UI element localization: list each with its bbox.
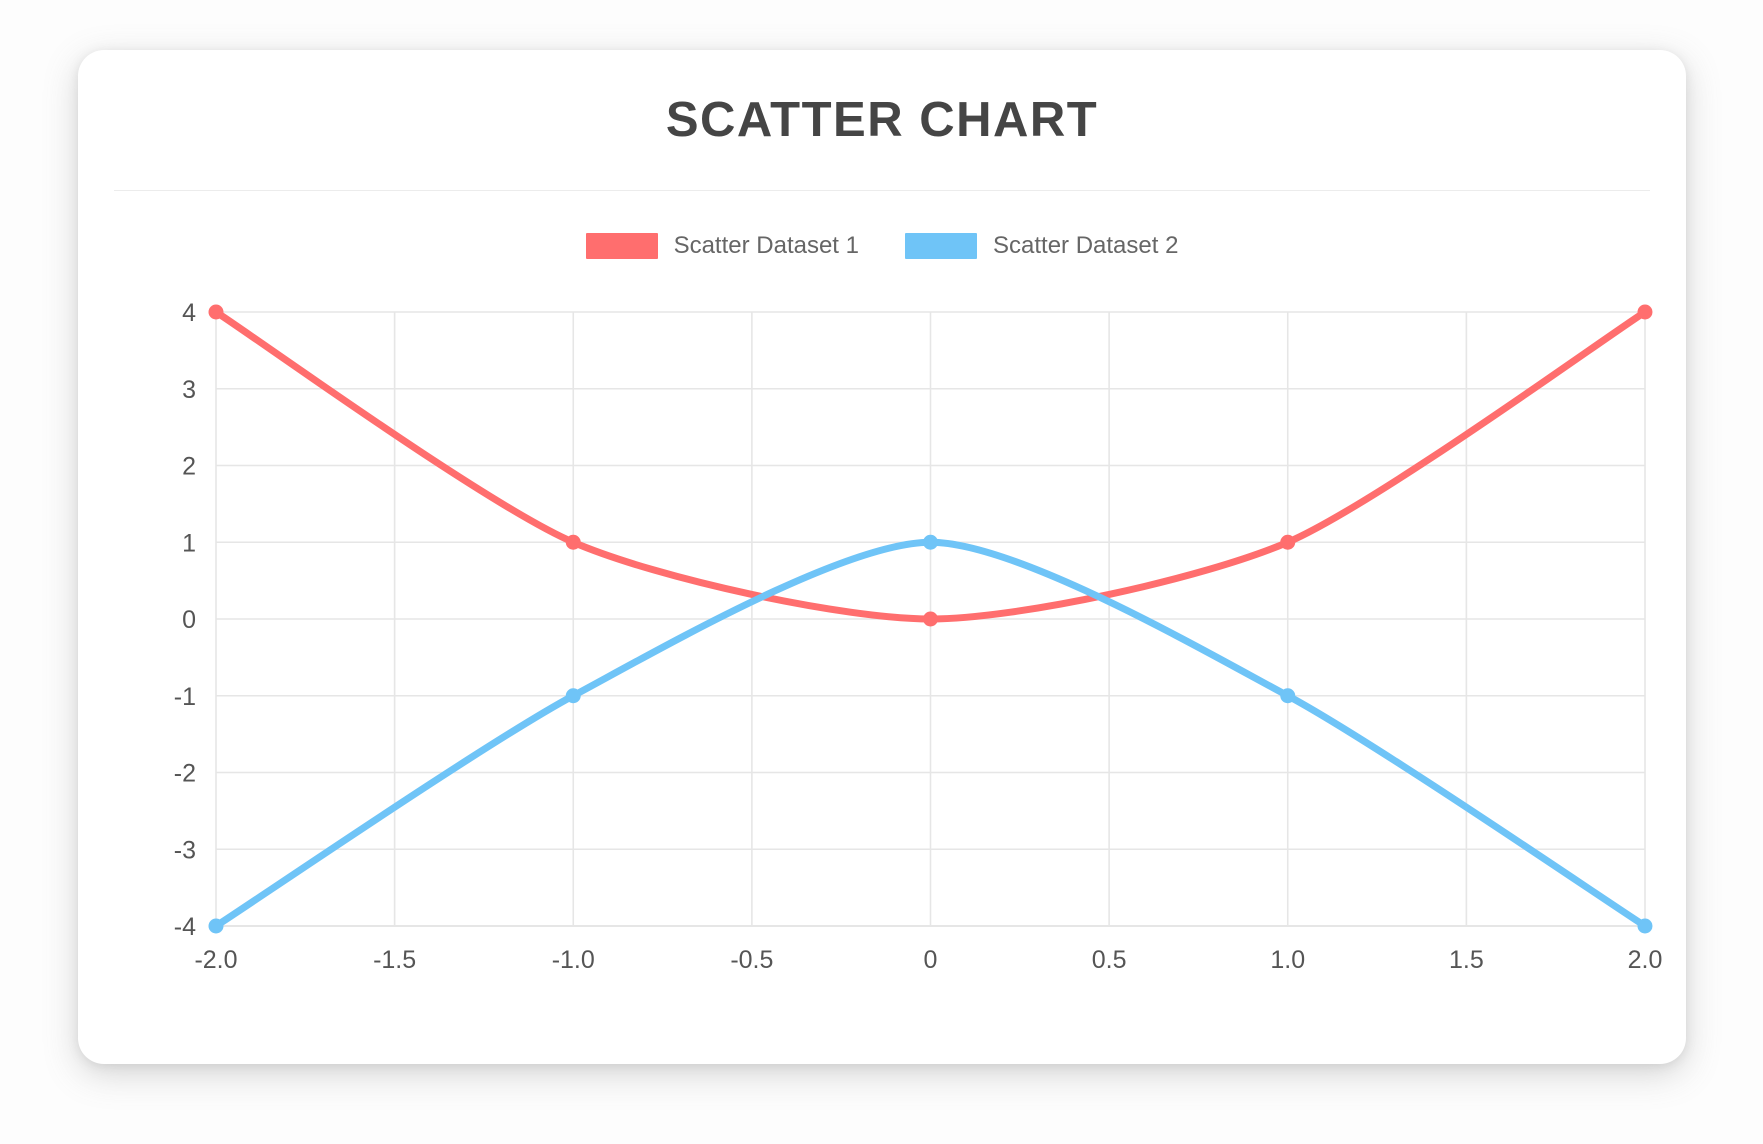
chart-page: SCATTER CHART Scatter Dataset 1Scatter D…: [0, 0, 1763, 1144]
data-point[interactable]: [566, 688, 581, 703]
x-tick-label: -2.0: [194, 946, 237, 974]
data-point[interactable]: [209, 305, 224, 320]
x-tick-label: -1.0: [552, 946, 595, 974]
scatter-chart-svg: 43210-1-2-3-4-2.0-1.5-1.0-0.500.51.01.52…: [78, 246, 1686, 1036]
x-tick-label: 2.0: [1628, 946, 1663, 974]
x-tick-label: 1.5: [1449, 946, 1484, 974]
y-tick-label: 0: [182, 606, 196, 634]
y-axis-ticks: 43210-1-2-3-4: [174, 299, 196, 941]
y-tick-label: -4: [174, 913, 196, 941]
data-point[interactable]: [1638, 919, 1653, 934]
y-tick-label: 3: [182, 376, 196, 404]
x-tick-label: -1.5: [373, 946, 416, 974]
page-title: SCATTER CHART: [78, 92, 1686, 148]
chart-card: SCATTER CHART Scatter Dataset 1Scatter D…: [78, 50, 1686, 1064]
y-tick-label: -2: [174, 760, 196, 788]
title-divider: [114, 190, 1650, 191]
data-point[interactable]: [923, 612, 938, 627]
x-tick-label: -0.5: [730, 946, 773, 974]
x-axis-ticks: -2.0-1.5-1.0-0.500.51.01.52.0: [194, 946, 1662, 974]
x-tick-label: 1.0: [1270, 946, 1305, 974]
y-tick-label: 1: [182, 529, 196, 557]
data-point[interactable]: [1638, 305, 1653, 320]
data-point[interactable]: [566, 535, 581, 550]
plot-area: 43210-1-2-3-4-2.0-1.5-1.0-0.500.51.01.52…: [78, 246, 1686, 1036]
data-point[interactable]: [209, 919, 224, 934]
data-point[interactable]: [923, 535, 938, 550]
data-point[interactable]: [1280, 688, 1295, 703]
x-tick-label: 0: [924, 946, 938, 974]
y-tick-label: -1: [174, 683, 196, 711]
x-tick-label: 0.5: [1092, 946, 1127, 974]
y-tick-label: -3: [174, 836, 196, 864]
data-point[interactable]: [1280, 535, 1295, 550]
y-tick-label: 2: [182, 453, 196, 481]
y-tick-label: 4: [182, 299, 196, 327]
